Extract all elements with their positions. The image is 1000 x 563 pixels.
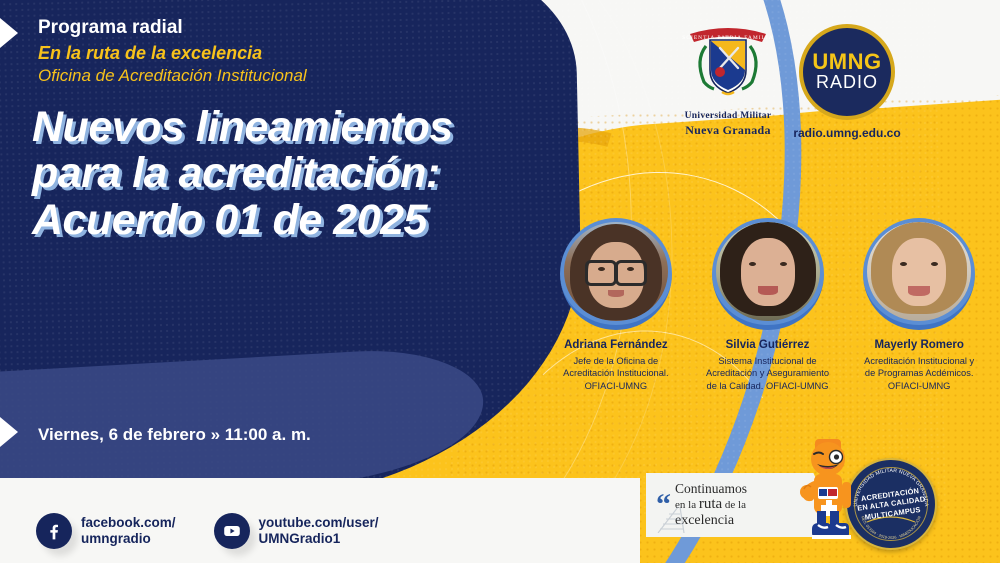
avatar	[712, 218, 824, 330]
speaker-role-line3: de la Calidad. OFIACI-UMNG	[707, 381, 829, 391]
chevron-icon-top	[0, 18, 18, 48]
speaker-role-line1: Jefe de la Oficina de	[573, 356, 658, 366]
speaker-role-line3: OFIACI-UMNG	[888, 381, 951, 391]
youtube-icon	[214, 513, 250, 549]
chevron-icon-bottom	[0, 417, 18, 447]
speaker-role-line2: Acreditación Institucional.	[563, 368, 668, 378]
speaker-name: Silvia Gutiérrez	[692, 339, 844, 353]
program-label: Programa radial	[38, 16, 468, 41]
speaker-role: Acreditación Institucional y de Programa…	[843, 355, 995, 393]
speaker-role: Jefe de la Oficina de Acreditación Insti…	[540, 355, 692, 393]
speaker-card: Silvia Gutiérrez Sistema Institucional d…	[692, 218, 844, 392]
tagline-line1: Continuamos	[675, 481, 747, 497]
facebook-icon	[36, 513, 72, 549]
radio-badge: UMNG RADIO	[799, 24, 895, 120]
tagline-line2-post: de la	[722, 499, 746, 511]
radio-word-radio: RADIO	[816, 73, 878, 93]
facebook-handle: facebook.com/ umngradio	[81, 515, 176, 547]
university-crest-logo: SCIENTIA PATRIA FAMILIA Universidad Mili…	[668, 20, 788, 138]
youtube-line1: youtube.com/user/	[259, 515, 379, 530]
mascot-icon	[790, 437, 866, 550]
social-youtube[interactable]: youtube.com/user/ UMNGradio1	[214, 513, 379, 549]
speaker-name: Mayerly Romero	[843, 339, 995, 353]
umng-radio-logo: UMNG RADIO radio.umng.edu.co	[792, 24, 902, 140]
facebook-line2: umngradio	[81, 531, 151, 546]
header-block: Programa radial En la ruta de la excelen…	[38, 16, 468, 88]
speaker-photo	[716, 222, 820, 321]
crest-name-line1: Universidad Militar	[668, 111, 788, 123]
program-name: En la ruta de la excelencia	[38, 41, 468, 65]
program-office: Oficina de Acreditación Institucional	[38, 65, 468, 88]
youtube-line2: UMNGradio1	[259, 531, 341, 546]
rails-icon	[654, 505, 716, 533]
radio-word-umng: UMNG	[812, 51, 881, 73]
crest-icon: SCIENTIA PATRIA FAMILIA	[676, 20, 780, 104]
speakers-list: Adriana Fernández Jefe de la Oficina de …	[540, 218, 995, 392]
crest-name-line2: Nueva Granada	[668, 123, 788, 138]
speaker-role: Sistema Institucional de Acreditación y …	[692, 355, 844, 393]
speaker-card: Adriana Fernández Jefe de la Oficina de …	[540, 218, 692, 392]
page-title: Nuevos lineamientos para la acreditación…	[32, 104, 512, 243]
social-links: facebook.com/ umngradio youtube.com/user…	[36, 513, 379, 549]
promotional-poster: Programa radial En la ruta de la excelen…	[0, 0, 1000, 563]
avatar	[560, 218, 672, 330]
radio-url: radio.umng.edu.co	[792, 126, 902, 140]
event-datetime: Viernes, 6 de febrero » 11:00 a. m.	[38, 425, 311, 445]
speaker-name: Adriana Fernández	[540, 339, 692, 353]
youtube-handle: youtube.com/user/ UMNGradio1	[259, 515, 379, 547]
speaker-photo	[564, 222, 668, 321]
speaker-role-line3: OFIACI-UMNG	[585, 381, 648, 391]
social-facebook[interactable]: facebook.com/ umngradio	[36, 513, 176, 549]
speaker-role-line1: Acreditación Institucional y	[864, 356, 974, 366]
speaker-card: Mayerly Romero Acreditación Instituciona…	[843, 218, 995, 392]
speaker-role-line1: Sistema Institucional de	[718, 356, 816, 366]
speaker-photo	[867, 222, 971, 321]
facebook-line1: facebook.com/	[81, 515, 176, 530]
speaker-role-line2: Acreditación y Aseguramiento	[706, 368, 829, 378]
speaker-role-line2: de Programas Acdémicos.	[865, 368, 974, 378]
avatar	[863, 218, 975, 330]
